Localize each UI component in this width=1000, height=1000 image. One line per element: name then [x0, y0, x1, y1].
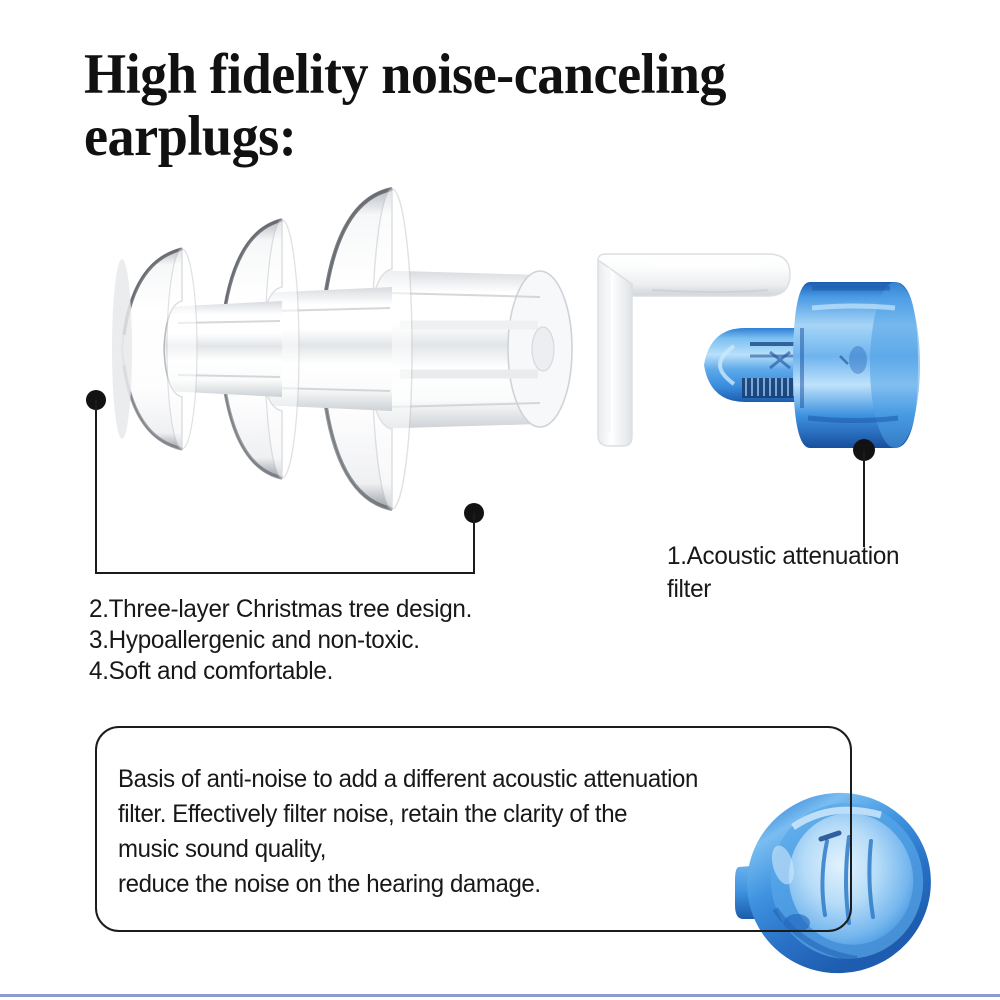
page-title: High fidelity noise-canceling earplugs: [84, 44, 873, 168]
bottom-divider [0, 994, 1000, 997]
blue-filter-side-photo [690, 268, 930, 463]
leader-line-left-vertical [95, 400, 97, 574]
infographic-page: High fidelity noise-canceling earplugs: [0, 0, 1000, 1000]
description-callout-text: Basis of anti-noise to add a different a… [118, 762, 819, 902]
leader-line-horizontal [95, 572, 475, 574]
leader-line-filter-vertical [863, 450, 865, 547]
filter-annotation-label: 1.Acoustic attenuation filter [667, 540, 958, 606]
leader-line-right-vertical [473, 513, 475, 574]
clear-earplug-photo [70, 175, 615, 520]
features-annotation-list: 2.Three-layer Christmas tree design. 3.H… [89, 594, 593, 687]
